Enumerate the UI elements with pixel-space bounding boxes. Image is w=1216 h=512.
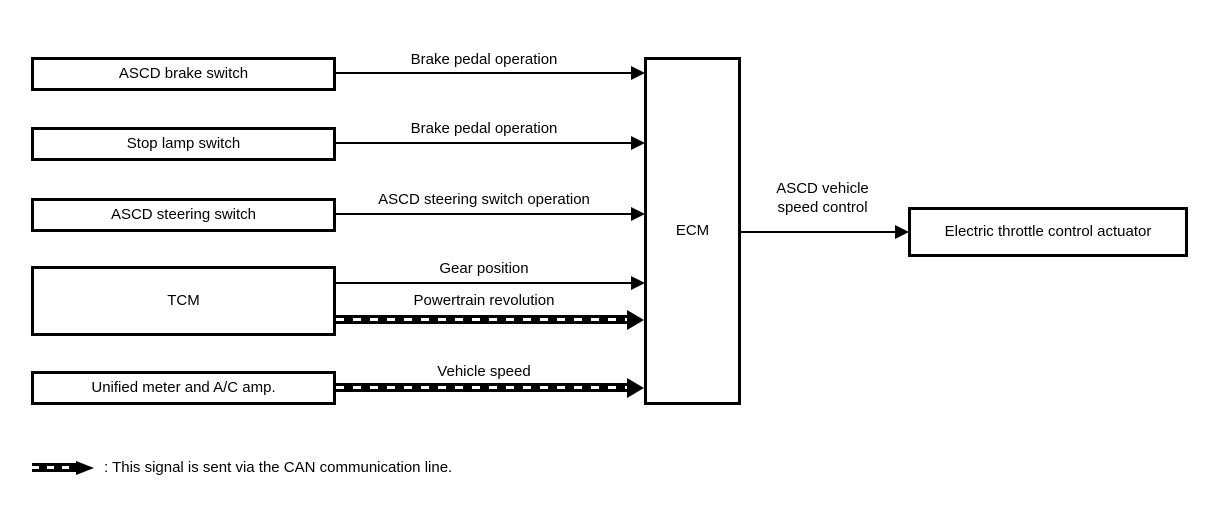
block-label: ASCD steering switch (111, 207, 256, 224)
block-label: ASCD brake switch (119, 66, 248, 83)
block-stop-lamp-switch: Stop lamp switch (31, 127, 336, 161)
diagram-canvas: ASCD brake switch Stop lamp switch ASCD … (0, 0, 1216, 512)
signal-arrowhead-ascd-vehicle-speed-control (895, 225, 909, 239)
block-ascd-steering-switch: ASCD steering switch (31, 198, 336, 232)
legend-text: : This signal is sent via the CAN commun… (104, 459, 452, 476)
block-electric-throttle-control-actuator: Electric throttle control actuator (908, 207, 1188, 257)
signal-label-vehicle-speed: Vehicle speed (336, 363, 632, 382)
block-ascd-brake-switch: ASCD brake switch (31, 57, 336, 91)
can-dashed-arrow-head (76, 461, 94, 475)
signal-line-brake-pedal-operation-1 (336, 72, 632, 74)
can-dashed-arrow-icon (32, 461, 96, 474)
signal-line-ascd-steering-switch-operation (336, 213, 632, 215)
block-unified-meter-and-ac-amp: Unified meter and A/C amp. (31, 371, 336, 405)
signal-arrowhead-brake-pedal-operation-1 (631, 66, 645, 80)
signal-label-line-2: speed control (745, 199, 900, 218)
signal-label-brake-pedal-operation-1: Brake pedal operation (336, 51, 632, 70)
block-label: Stop lamp switch (127, 136, 240, 153)
signal-arrowhead-powertrain-revolution (627, 310, 644, 330)
block-label: TCM (167, 293, 200, 310)
signal-line-vehicle-speed (336, 383, 629, 392)
signal-arrowhead-gear-position (631, 276, 645, 290)
signal-line-gear-position (336, 282, 632, 284)
legend: : This signal is sent via the CAN commun… (32, 459, 452, 476)
signal-label-brake-pedal-operation-2: Brake pedal operation (336, 120, 632, 139)
signal-line-ascd-vehicle-speed-control (741, 231, 896, 233)
block-label: Unified meter and A/C amp. (91, 380, 275, 397)
signal-arrowhead-ascd-steering-switch-operation (631, 207, 645, 221)
can-dashed-arrow-bar (32, 463, 78, 472)
signal-label-ascd-steering-switch-operation: ASCD steering switch operation (336, 191, 632, 210)
signal-label-powertrain-revolution: Powertrain revolution (336, 292, 632, 311)
signal-line-brake-pedal-operation-2 (336, 142, 632, 144)
signal-label-gear-position: Gear position (336, 260, 632, 279)
block-label: ECM (676, 223, 709, 240)
signal-label-line-1: ASCD vehicle (745, 180, 900, 199)
block-ecm: ECM (644, 57, 741, 405)
signal-line-powertrain-revolution (336, 315, 629, 324)
block-label: Electric throttle control actuator (945, 224, 1152, 241)
signal-arrowhead-brake-pedal-operation-2 (631, 136, 645, 150)
signal-label-ascd-vehicle-speed-control: ASCD vehicle speed control (745, 180, 900, 218)
block-tcm: TCM (31, 266, 336, 336)
